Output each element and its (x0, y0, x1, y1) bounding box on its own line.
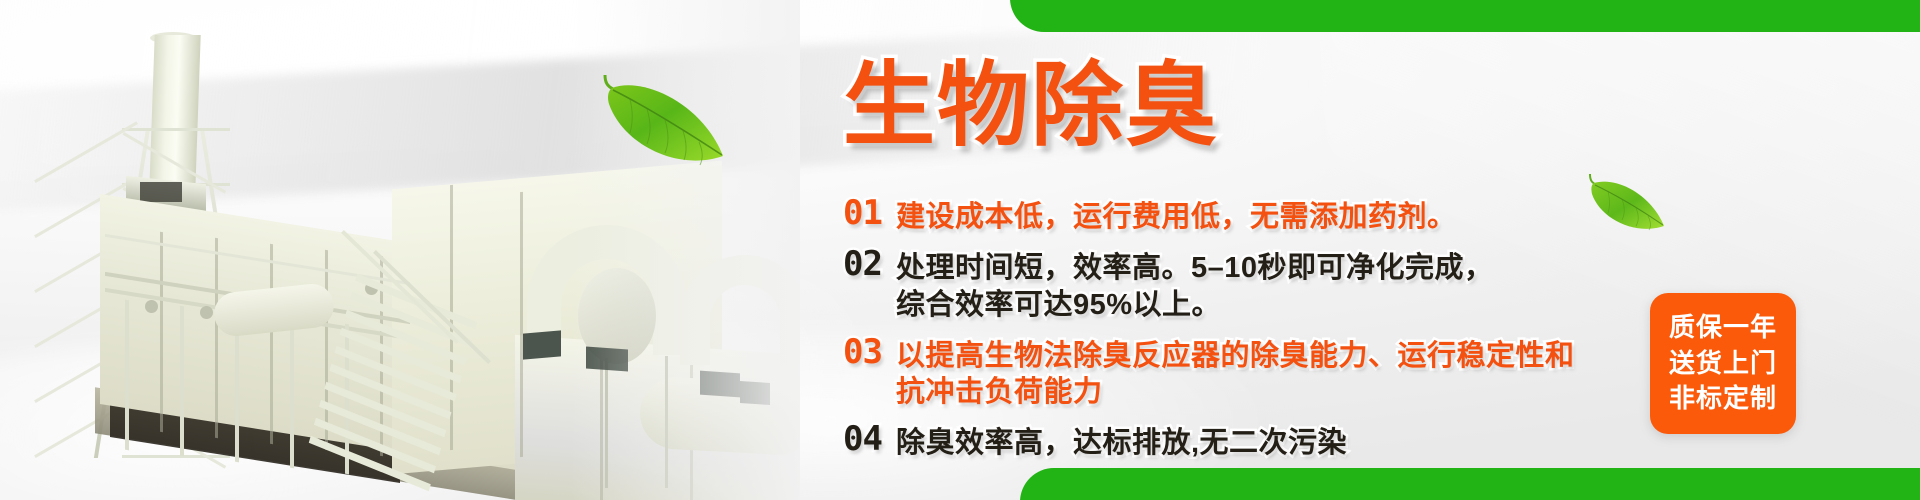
service-guarantee-badge[interactable]: 质保一年 送货上门 非标定制 (1650, 293, 1796, 434)
green-ribbon-top (1010, 0, 1920, 32)
feature-item-03: 03 以提高生物法除臭反应器的除臭能力、运行稳定性和 抗冲击负荷能力 (843, 335, 1673, 411)
leaf-icon (585, 60, 735, 180)
badge-line-3: 非标定制 (1669, 381, 1777, 417)
page-title: 生物除臭 (843, 60, 1219, 152)
feature-number: 02 (843, 247, 882, 283)
tower-shadow (140, 182, 182, 202)
feature-text-line2: 抗冲击负荷能力 (896, 374, 1575, 410)
page-title-text: 生物除臭 (843, 55, 1219, 157)
feature-number: 04 (843, 422, 882, 458)
feature-text: 建设成本低，运行费用低，无需添加药剂。 (896, 196, 1457, 235)
feature-item-01: 01 建设成本低，运行费用低，无需添加药剂。 (843, 196, 1673, 235)
feature-text-line1: 建设成本低，运行费用低，无需添加药剂。 (896, 201, 1457, 233)
feature-number: 03 (843, 335, 882, 371)
feature-text: 处理时间短，效率高。5–10秒即可净化完成， 综合效率可达95%以上。 (896, 247, 1494, 323)
promo-banner: 生物除臭 01 建设成本低，运行费用低，无需添加药剂。 02 处理时间短，效率高… (0, 0, 1920, 500)
feature-list: 01 建设成本低，运行费用低，无需添加药剂。 02 处理时间短，效率高。5–10… (843, 196, 1673, 474)
feature-text: 以提高生物法除臭反应器的除臭能力、运行稳定性和 抗冲击负荷能力 (896, 335, 1575, 411)
feature-item-04: 04 除臭效率高，达标排放,无二次污染 (843, 422, 1673, 461)
badge-line-2: 送货上门 (1669, 346, 1777, 382)
feature-text-line2: 综合效率可达95%以上。 (896, 287, 1494, 323)
feature-number: 01 (843, 196, 882, 232)
feature-item-02: 02 处理时间短，效率高。5–10秒即可净化完成， 综合效率可达95%以上。 (843, 247, 1673, 323)
feature-text-line1: 以提高生物法除臭反应器的除臭能力、运行稳定性和 (896, 340, 1575, 372)
feature-text-line1: 处理时间短，效率高。5–10秒即可净化完成， (896, 252, 1494, 284)
feature-text: 除臭效率高，达标排放,无二次污染 (896, 422, 1347, 461)
badge-line-1: 质保一年 (1669, 310, 1777, 346)
feature-text-line1: 除臭效率高，达标排放,无二次污染 (896, 427, 1347, 459)
